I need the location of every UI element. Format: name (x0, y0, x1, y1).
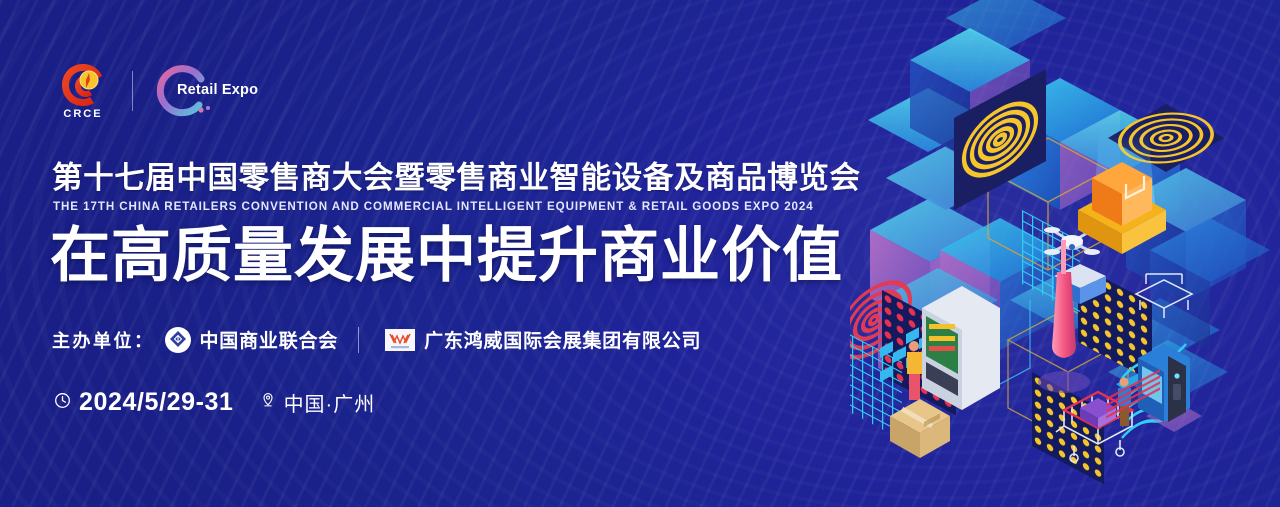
crce-emblem-icon (59, 62, 107, 108)
organizers-row: 主办单位： 中国商业联合会 (52, 326, 701, 353)
headline-slogan: 在高质量发展中提升商业价值 (50, 222, 843, 289)
organizer-item-hongwei: 广东鸿威国际会展集团有限公司 (385, 326, 701, 353)
organizers-label: 主办单位： (52, 327, 155, 353)
event-date: 2024/5/29-31 (79, 388, 234, 417)
crce-logo-text: CRCE (63, 109, 102, 120)
date-group: 2024/5/29-31 (54, 388, 234, 417)
isometric-retail-tech-illustration (850, 0, 1280, 507)
retail-expo-logo: Retail Expo (151, 63, 259, 119)
page-title-chinese: 第十七届中国零售商大会暨零售商业智能设备及商品博览会 (52, 162, 861, 195)
cbc-diamond-badge-icon (165, 327, 191, 353)
organizer-name-hongwei: 广东鸿威国际会展集团有限公司 (424, 326, 701, 353)
retail-expo-label: Retail Expo (177, 82, 258, 98)
logo-row: CRCE (52, 62, 259, 120)
page-title-english: THE 17TH CHINA RETAILERS CONVENTION AND … (53, 200, 814, 213)
banner-content: CRCE (0, 0, 860, 507)
event-location: 中国·广州 (284, 388, 376, 417)
location-group: 中国·广州 (260, 388, 376, 417)
meta-row: 2024/5/29-31 中国·广州 (54, 388, 375, 417)
clock-icon (54, 392, 71, 414)
logo-divider (132, 71, 133, 111)
location-pin-icon (260, 391, 276, 414)
organizer-name-cbc: 中国商业联合会 (200, 326, 339, 353)
organizer-separator (358, 327, 359, 353)
expo-banner: CRCE (0, 0, 1280, 507)
organizer-item-cbc: 中国商业联合会 (165, 326, 339, 353)
crce-logo: CRCE (52, 62, 114, 120)
hongwei-w-badge-icon (385, 329, 415, 351)
